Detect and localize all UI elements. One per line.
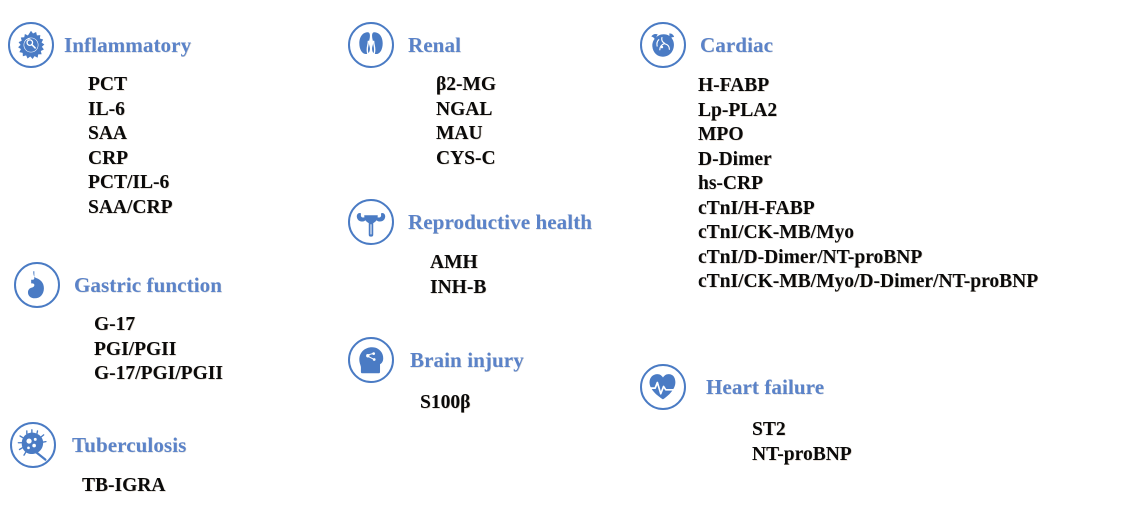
list-item: cTnI/CK-MB/Myo bbox=[698, 221, 1038, 246]
list-item: PCT/IL-6 bbox=[88, 171, 191, 196]
list-item: β2-MG bbox=[436, 73, 496, 98]
list-item: MPO bbox=[698, 123, 1038, 148]
head-brain-icon bbox=[348, 337, 394, 383]
biomarker-list: G-17 PGI/PGII G-17/PGI/PGII bbox=[94, 313, 223, 387]
list-item: hs-CRP bbox=[698, 172, 1038, 197]
list-item: CYS-C bbox=[436, 147, 496, 172]
group-heart-failure: Heart failure ST2 NT-proBNP bbox=[640, 364, 852, 467]
list-item: SAA/CRP bbox=[88, 196, 191, 221]
group-title: Inflammatory bbox=[64, 33, 191, 58]
group-tuberculosis: Tuberculosis TB-IGRA bbox=[10, 422, 186, 499]
list-item: ST2 bbox=[752, 418, 852, 443]
group-gastric-function: Gastric function G-17 PGI/PGII G-17/PGI/… bbox=[14, 262, 223, 387]
group-header: Gastric function bbox=[14, 262, 223, 308]
biomarker-list: AMH INH-B bbox=[430, 251, 592, 300]
list-item: cTnI/CK-MB/Myo/D-Dimer/NT-proBNP bbox=[698, 270, 1038, 295]
group-title: Reproductive health bbox=[408, 210, 592, 235]
list-item: D-Dimer bbox=[698, 148, 1038, 173]
virus-icon bbox=[8, 22, 54, 68]
list-item: CRP bbox=[88, 147, 191, 172]
group-header: Reproductive health bbox=[348, 199, 592, 245]
heart-ecg-icon bbox=[640, 364, 686, 410]
uterus-icon bbox=[348, 199, 394, 245]
biomarker-list: S100β bbox=[420, 391, 524, 416]
bacteria-icon bbox=[10, 422, 56, 468]
list-item: AMH bbox=[430, 251, 592, 276]
group-renal: Renal β2-MG NGAL MAU CYS-C bbox=[348, 22, 496, 171]
list-item: S100β bbox=[420, 391, 524, 416]
biomarker-list: β2-MG NGAL MAU CYS-C bbox=[436, 73, 496, 171]
list-item: cTnI/D-Dimer/NT-proBNP bbox=[698, 246, 1038, 271]
list-item: NGAL bbox=[436, 98, 496, 123]
list-item: INH-B bbox=[430, 276, 592, 301]
list-item: G-17 bbox=[94, 313, 223, 338]
list-item: cTnI/H-FABP bbox=[698, 197, 1038, 222]
biomarker-list: H-FABP Lp-PLA2 MPO D-Dimer hs-CRP cTnI/H… bbox=[698, 74, 1038, 295]
group-header: Renal bbox=[348, 22, 496, 68]
list-item: PGI/PGII bbox=[94, 338, 223, 363]
group-reproductive-health: Reproductive health AMH INH-B bbox=[348, 199, 592, 300]
group-inflammatory: Inflammatory PCT IL-6 SAA CRP PCT/IL-6 S… bbox=[8, 22, 191, 220]
biomarker-list: PCT IL-6 SAA CRP PCT/IL-6 SAA/CRP bbox=[88, 73, 191, 220]
heart-anatomy-icon bbox=[640, 22, 686, 68]
group-cardiac: Cardiac H-FABP Lp-PLA2 MPO D-Dimer hs-CR… bbox=[640, 22, 1038, 295]
list-item: H-FABP bbox=[698, 74, 1038, 99]
group-brain-injury: Brain injury S100β bbox=[348, 337, 524, 416]
list-item: IL-6 bbox=[88, 98, 191, 123]
list-item: NT-proBNP bbox=[752, 443, 852, 468]
group-header: Cardiac bbox=[640, 22, 1038, 68]
list-item: PCT bbox=[88, 73, 191, 98]
kidneys-icon bbox=[348, 22, 394, 68]
group-title: Cardiac bbox=[700, 33, 773, 58]
list-item: TB-IGRA bbox=[82, 474, 186, 499]
group-title: Brain injury bbox=[410, 348, 524, 373]
biomarker-panel-board: Inflammatory PCT IL-6 SAA CRP PCT/IL-6 S… bbox=[0, 0, 1122, 527]
group-title: Tuberculosis bbox=[72, 433, 186, 458]
list-item: SAA bbox=[88, 122, 191, 147]
biomarker-list: ST2 NT-proBNP bbox=[752, 418, 852, 467]
group-header: Heart failure bbox=[640, 364, 852, 410]
list-item: Lp-PLA2 bbox=[698, 99, 1038, 124]
list-item: G-17/PGI/PGII bbox=[94, 362, 223, 387]
group-title: Gastric function bbox=[74, 273, 222, 298]
list-item: MAU bbox=[436, 122, 496, 147]
biomarker-list: TB-IGRA bbox=[82, 474, 186, 499]
group-header: Brain injury bbox=[348, 337, 524, 383]
group-title: Heart failure bbox=[706, 375, 824, 400]
group-title: Renal bbox=[408, 33, 461, 58]
stomach-icon bbox=[14, 262, 60, 308]
group-header: Inflammatory bbox=[8, 22, 191, 68]
group-header: Tuberculosis bbox=[10, 422, 186, 468]
